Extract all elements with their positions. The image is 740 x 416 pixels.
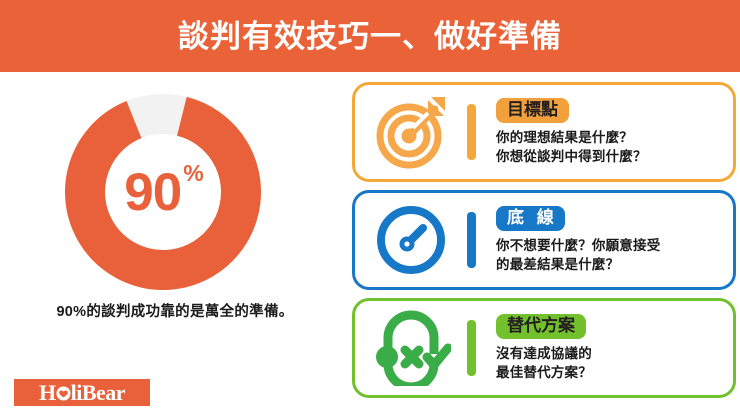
- card-body: 目標點 你的理想結果是什麼？ 你想從談判中得到什麼？: [476, 98, 733, 167]
- card-badge-alternative: 替代方案: [496, 314, 586, 339]
- card-text-alternative: 沒有達成協議的 最佳替代方案？: [496, 344, 725, 382]
- card-accent-divider: [467, 104, 476, 160]
- card-bottom-line[interactable]: 底 線 你不想要什麼？你願意接受 的最差結果是什麼？: [352, 190, 736, 290]
- card-text-line: 沒有達成協議的: [496, 344, 725, 363]
- donut-caption: 90%的談判成功靠的是萬全的準備。: [0, 300, 350, 321]
- card-text-bottom-line: 你不想要什麼？你願意接受 的最差結果是什麼？: [496, 236, 725, 274]
- card-body: 替代方案 沒有達成協議的 最佳替代方案？: [476, 314, 733, 383]
- gauge-meter-icon: [355, 193, 467, 287]
- header-bar: 談判有效技巧一、做好準備: [0, 0, 740, 72]
- card-text-line: 你不想要什麼？你願意接受: [496, 236, 725, 255]
- holibear-logo-text: HliBear: [39, 382, 125, 404]
- page-title: 談判有效技巧一、做好準備: [178, 21, 562, 52]
- card-accent-divider: [467, 320, 476, 376]
- card-accent-divider: [467, 212, 476, 268]
- donut-panel: 90 % 90%的談判成功靠的是萬全的準備。: [0, 72, 350, 416]
- logo-text-before: H: [39, 382, 56, 404]
- holibear-logo: HliBear: [14, 379, 150, 406]
- donut-chart: 90 %: [65, 94, 261, 290]
- tips-card-list: 目標點 你的理想結果是什麼？ 你想從談判中得到什麼？ 底 線: [352, 82, 738, 408]
- target-dartboard-icon: [355, 85, 467, 179]
- card-badge-bottom-line: 底 線: [496, 206, 565, 231]
- card-body: 底 線 你不想要什麼？你願意接受 的最差結果是什麼？: [476, 206, 733, 275]
- donut-value-text: 90: [124, 166, 181, 219]
- card-alternative[interactable]: 替代方案 沒有達成協議的 最佳替代方案？: [352, 298, 736, 398]
- card-text-line: 的最差結果是什麼？: [496, 255, 725, 274]
- logo-text-middle: li: [71, 382, 82, 404]
- card-text-line: 最佳替代方案？: [496, 363, 725, 382]
- donut-center-label: 90 %: [65, 94, 261, 290]
- donut-unit-text: %: [183, 162, 203, 185]
- card-goal[interactable]: 目標點 你的理想結果是什麼？ 你想從談判中得到什麼？: [352, 82, 736, 182]
- card-text-line: 你想從談判中得到什麼？: [496, 147, 725, 166]
- card-text-goal: 你的理想結果是什麼？ 你想從談判中得到什麼？: [496, 128, 725, 166]
- card-badge-goal: 目標點: [496, 98, 569, 123]
- alternative-options-icon: [355, 301, 467, 395]
- logo-text-after: Bear: [82, 382, 125, 404]
- card-text-line: 你的理想結果是什麼？: [496, 128, 725, 147]
- slide-canvas: 談判有效技巧一、做好準備 90 % 90%的談判成功靠的是萬全的準備。 HliB…: [0, 0, 740, 416]
- logo-heart-o-icon: [56, 382, 71, 404]
